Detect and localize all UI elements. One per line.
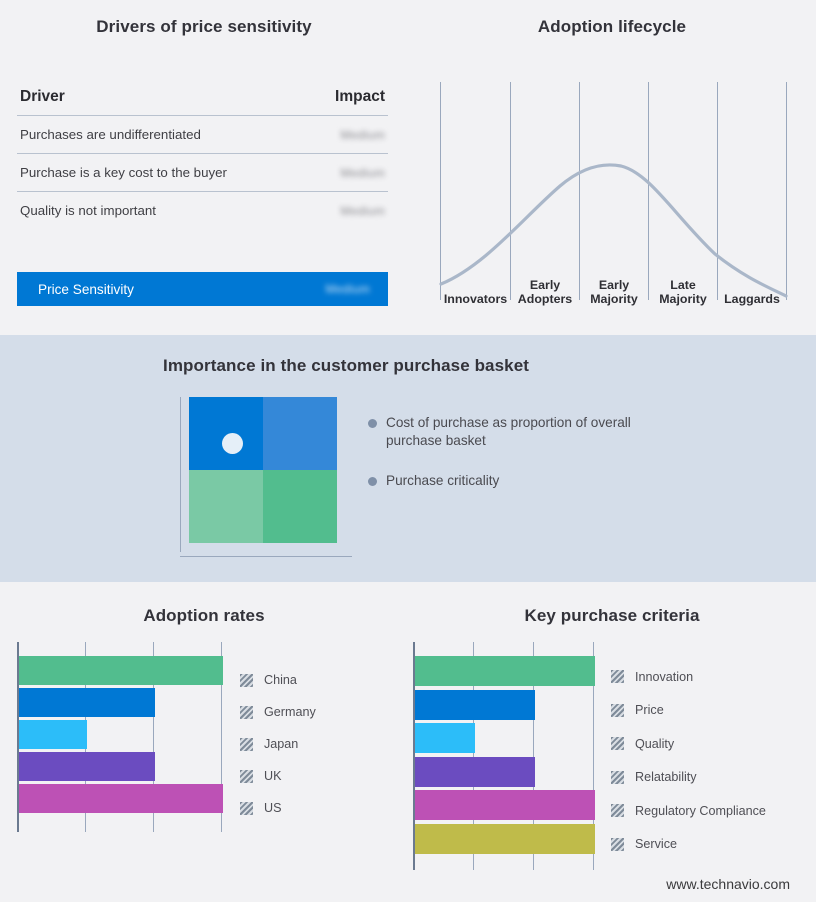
quadrant-matrix bbox=[180, 397, 355, 557]
segment-line-2: Majority bbox=[580, 292, 648, 306]
bar-innovation bbox=[415, 656, 595, 686]
legend-label: Purchase criticality bbox=[386, 472, 499, 490]
segment-label-late-majority: Late Majority bbox=[649, 278, 717, 306]
segment-label-laggards: Laggards bbox=[718, 292, 786, 306]
drivers-of-price-sensitivity-panel: Drivers of price sensitivity Driver Impa… bbox=[0, 0, 408, 335]
legend-label: Cost of purchase as proportion of overal… bbox=[386, 414, 648, 450]
hatched-swatch-icon bbox=[240, 770, 253, 783]
bar-china bbox=[19, 656, 223, 685]
hatched-swatch-icon bbox=[240, 802, 253, 815]
legend-label: US bbox=[264, 801, 282, 815]
bullet-icon bbox=[368, 477, 377, 486]
importance-legend: Cost of purchase as proportion of overal… bbox=[368, 414, 668, 512]
matrix-cells bbox=[189, 397, 337, 543]
legend-label: Japan bbox=[264, 737, 298, 751]
hatched-swatch-icon bbox=[611, 771, 624, 784]
criteria-bars bbox=[413, 642, 598, 870]
driver-label: Purchase is a key cost to the buyer bbox=[20, 165, 227, 180]
matrix-cell-top-right bbox=[263, 397, 337, 470]
page-title-key-criteria: Key purchase criteria bbox=[408, 606, 816, 626]
adoption-lifecycle-panel: Adoption lifecycle Innovators Early Adop… bbox=[408, 0, 816, 335]
segment-line-1: Early bbox=[511, 278, 579, 292]
matrix-y-axis bbox=[180, 397, 181, 552]
matrix-cell-top-left bbox=[189, 397, 263, 470]
hatched-swatch-icon bbox=[240, 706, 253, 719]
bar-quality bbox=[415, 723, 475, 753]
table-header-row: Driver Impact bbox=[17, 88, 388, 115]
column-header-driver: Driver bbox=[20, 88, 65, 106]
bar-price bbox=[415, 690, 535, 720]
bar-japan bbox=[19, 720, 87, 749]
hatched-swatch-icon bbox=[240, 738, 253, 751]
price-sensitivity-summary-row: Price Sensitivity Medium bbox=[17, 272, 388, 306]
hatched-swatch-icon bbox=[611, 704, 624, 717]
matrix-cell-bottom-right bbox=[263, 470, 337, 543]
legend-item: Relatability bbox=[611, 761, 766, 795]
legend-item: China bbox=[240, 664, 316, 696]
legend-item: Price bbox=[611, 694, 766, 728]
adoption-rates-chart bbox=[17, 642, 227, 832]
price-sensitivity-label: Price Sensitivity bbox=[38, 282, 134, 297]
website-footer: www.technavio.com bbox=[666, 876, 790, 892]
impact-value: Medium bbox=[341, 204, 385, 218]
page-title-importance: Importance in the customer purchase bask… bbox=[163, 356, 816, 376]
segment-label-innovators: Innovators bbox=[441, 292, 510, 306]
driver-label: Quality is not important bbox=[20, 203, 156, 218]
segment-line-2: Innovators bbox=[441, 292, 510, 306]
hatched-swatch-icon bbox=[611, 838, 624, 851]
lifecycle-plot-area: Innovators Early Adopters Early Majority… bbox=[425, 66, 799, 312]
adoption-rates-legend: ChinaGermanyJapanUKUS bbox=[240, 664, 316, 824]
legend-label: Service bbox=[635, 837, 677, 851]
bar-uk bbox=[19, 752, 155, 781]
drivers-table: Driver Impact Purchases are undifferenti… bbox=[17, 88, 388, 229]
hatched-swatch-icon bbox=[240, 674, 253, 687]
legend-label: Relatability bbox=[635, 770, 697, 784]
legend-item: Innovation bbox=[611, 660, 766, 694]
hatched-swatch-icon bbox=[611, 737, 624, 750]
bar-germany bbox=[19, 688, 155, 717]
segment-label-early-adopters: Early Adopters bbox=[511, 278, 579, 306]
legend-label: Germany bbox=[264, 705, 316, 719]
bar-regulatory-compliance bbox=[415, 790, 595, 820]
driver-label: Purchases are undifferentiated bbox=[20, 127, 201, 142]
segment-line-1: Early bbox=[580, 278, 648, 292]
legend-item: Japan bbox=[240, 728, 316, 760]
legend-item: Regulatory Compliance bbox=[611, 794, 766, 828]
legend-item: Quality bbox=[611, 727, 766, 761]
segment-line-1: Late bbox=[649, 278, 717, 292]
table-row: Quality is not important Medium bbox=[17, 192, 388, 229]
key-purchase-criteria-panel: Key purchase criteria InnovationPriceQua… bbox=[408, 582, 816, 902]
key-purchase-criteria-legend: InnovationPriceQualityRelatabilityRegula… bbox=[611, 660, 766, 861]
legend-label: Regulatory Compliance bbox=[635, 804, 766, 818]
matrix-x-axis bbox=[180, 556, 352, 557]
legend-item: US bbox=[240, 792, 316, 824]
impact-value: Medium bbox=[341, 166, 385, 180]
adoption-rates-panel: Adoption rates ChinaGermanyJapanUKUS bbox=[0, 582, 408, 902]
key-purchase-criteria-chart bbox=[413, 642, 598, 870]
impact-value: Medium bbox=[341, 128, 385, 142]
bar-us bbox=[19, 784, 223, 813]
column-header-impact: Impact bbox=[335, 88, 385, 106]
legend-label: Quality bbox=[635, 737, 674, 751]
segment-label-early-majority: Early Majority bbox=[580, 278, 648, 306]
bar-relatability bbox=[415, 757, 535, 787]
page-title-lifecycle: Adoption lifecycle bbox=[408, 17, 816, 37]
table-row: Purchases are undifferentiated Medium bbox=[17, 116, 388, 153]
segment-line-2: Laggards bbox=[718, 292, 786, 306]
legend-item: Service bbox=[611, 828, 766, 862]
adoption-bars bbox=[17, 642, 227, 832]
matrix-cell-bottom-left bbox=[189, 470, 263, 543]
legend-label: China bbox=[264, 673, 297, 687]
segment-line-2: Adopters bbox=[511, 292, 579, 306]
hatched-swatch-icon bbox=[611, 670, 624, 683]
legend-label: Price bbox=[635, 703, 664, 717]
legend-item: UK bbox=[240, 760, 316, 792]
lifecycle-segment-labels: Innovators Early Adopters Early Majority… bbox=[425, 66, 799, 312]
hatched-swatch-icon bbox=[611, 804, 624, 817]
bullet-icon bbox=[368, 419, 377, 428]
bar-service bbox=[415, 824, 595, 854]
segment-line-2: Majority bbox=[649, 292, 717, 306]
legend-label: Innovation bbox=[635, 670, 693, 684]
position-marker-dot bbox=[222, 433, 243, 454]
legend-item: Cost of purchase as proportion of overal… bbox=[368, 414, 668, 450]
legend-item: Purchase criticality bbox=[368, 472, 668, 490]
legend-item: Germany bbox=[240, 696, 316, 728]
price-sensitivity-impact-value: Medium bbox=[326, 282, 370, 296]
legend-label: UK bbox=[264, 769, 282, 783]
table-row: Purchase is a key cost to the buyer Medi… bbox=[17, 154, 388, 191]
page-title-adoption-rates: Adoption rates bbox=[0, 606, 408, 626]
page-title-drivers: Drivers of price sensitivity bbox=[0, 17, 408, 37]
